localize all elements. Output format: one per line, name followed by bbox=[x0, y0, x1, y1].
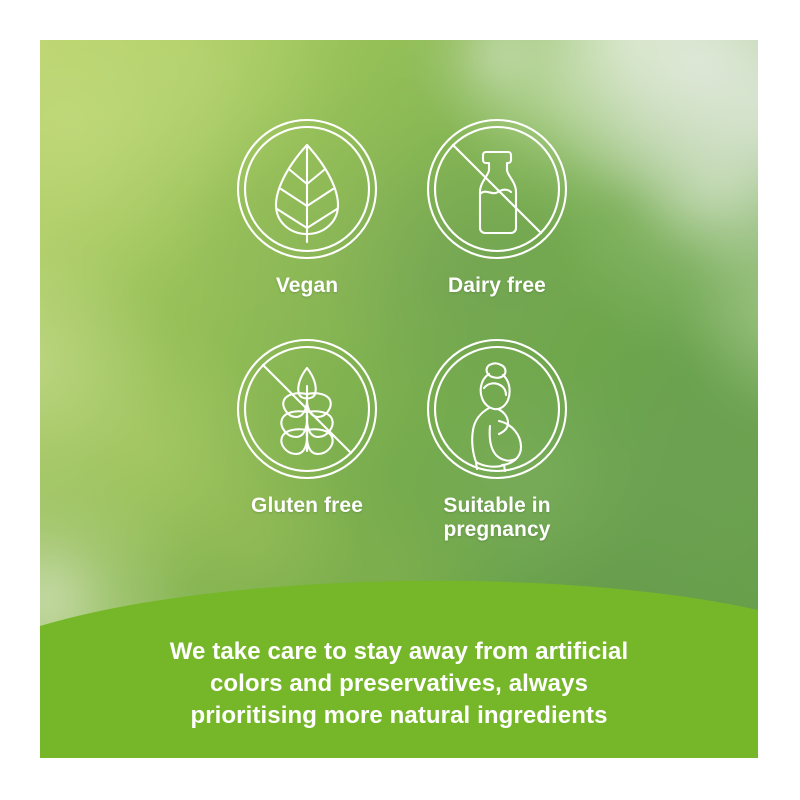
product-claims-panel: Vegan Dairy free bbox=[40, 40, 758, 758]
claim-badge-label: Dairy free bbox=[402, 274, 592, 298]
image-canvas: Vegan Dairy free bbox=[0, 0, 800, 800]
pregnant-woman-icon bbox=[426, 338, 568, 480]
leaf-icon bbox=[236, 118, 378, 260]
claim-badge-dairy-free: Dairy free bbox=[402, 118, 592, 298]
claim-badge-vegan: Vegan bbox=[212, 118, 402, 298]
wheat-icon bbox=[236, 338, 378, 480]
claim-badge-grid: Vegan Dairy free bbox=[40, 40, 758, 600]
claim-badge-gluten-free: Gluten free bbox=[212, 338, 402, 518]
promise-banner: We take care to stay away from artificia… bbox=[40, 580, 758, 758]
milk-bottle-icon bbox=[426, 118, 568, 260]
claim-badge-label: Gluten free bbox=[212, 494, 402, 518]
claim-badge-label: Vegan bbox=[212, 274, 402, 298]
claim-badge-label: Suitable in pregnancy bbox=[402, 494, 592, 543]
promise-banner-text: We take care to stay away from artificia… bbox=[40, 636, 758, 732]
claim-badge-suitable-in-pregnancy: Suitable in pregnancy bbox=[402, 338, 592, 543]
